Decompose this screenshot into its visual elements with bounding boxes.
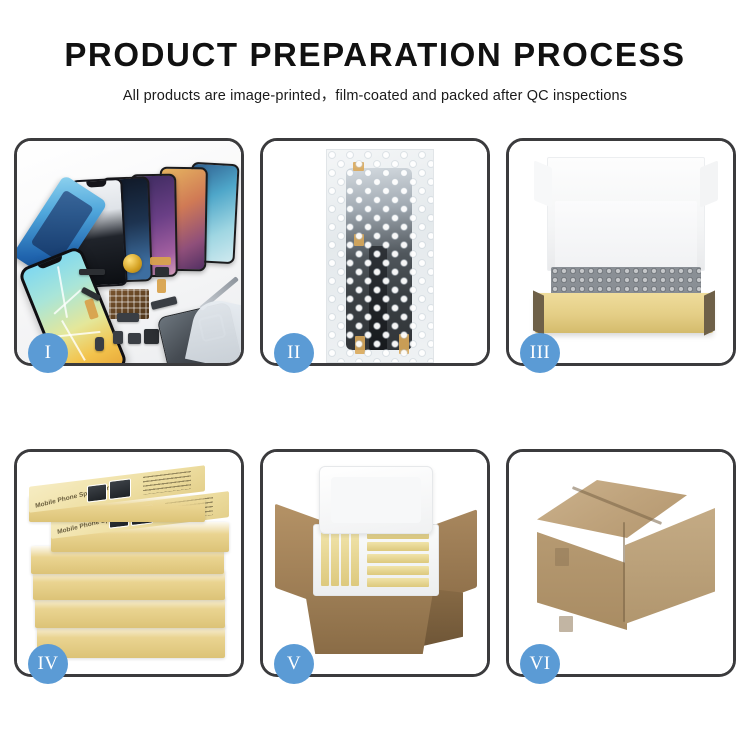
box-label-phone-a1 bbox=[87, 483, 107, 502]
stacked-box-4 bbox=[33, 570, 225, 600]
step-badge-3: III bbox=[520, 333, 560, 373]
inner-yellow-box-6 bbox=[367, 542, 429, 551]
vibration-motor-part bbox=[123, 254, 142, 273]
carton-tape-upper bbox=[555, 548, 569, 566]
inner-yellow-box-9 bbox=[367, 578, 429, 587]
panel-1-image bbox=[17, 141, 241, 363]
stacked-box-5 bbox=[35, 596, 225, 628]
step-badge-5: V bbox=[274, 644, 314, 684]
process-step-panel-6[interactable]: VI bbox=[506, 449, 736, 677]
chip-part-6 bbox=[117, 313, 139, 322]
flex-cable-2 bbox=[157, 279, 166, 293]
carton-vertical-edge bbox=[623, 522, 625, 622]
box-label-phone-b1 bbox=[109, 478, 131, 500]
panel-6-image bbox=[509, 452, 733, 674]
inner-yellow-box-2 bbox=[331, 532, 339, 586]
box-stack: Mobile Phone Spare Parts Mobile Phone Sp… bbox=[25, 474, 237, 664]
panel-5-image bbox=[263, 452, 487, 674]
process-panel-grid: I II III bbox=[14, 138, 736, 677]
inner-yellow-box-7 bbox=[367, 554, 429, 563]
chip-part-3 bbox=[113, 331, 123, 344]
step-badge-2: II bbox=[274, 333, 314, 373]
step-badge-1: I bbox=[28, 333, 68, 373]
process-step-panel-1[interactable]: I bbox=[14, 138, 244, 366]
step-badge-4: IV bbox=[28, 644, 68, 684]
inner-yellow-box-8 bbox=[367, 566, 429, 575]
chip-part-2 bbox=[155, 267, 169, 276]
page-subtitle: All products are image-printed，film-coat… bbox=[0, 84, 750, 105]
panel-2-image bbox=[263, 141, 487, 363]
inner-yellow-box-3 bbox=[341, 532, 349, 586]
process-step-panel-5[interactable]: V bbox=[260, 449, 490, 677]
flex-cable-1 bbox=[150, 257, 171, 265]
chip-part-1 bbox=[79, 269, 105, 275]
panel-4-image: Mobile Phone Spare Parts Mobile Phone Sp… bbox=[17, 452, 241, 674]
page-header: PRODUCT PREPARATION PROCESS All products… bbox=[0, 0, 750, 105]
inner-yellow-box-1 bbox=[321, 532, 329, 586]
foam-insert-lid bbox=[319, 466, 433, 534]
box-label-specs-1 bbox=[143, 471, 191, 495]
foam-lining bbox=[555, 201, 697, 275]
chip-part-7 bbox=[95, 337, 104, 351]
carton-tape-lower bbox=[559, 616, 573, 632]
panel-3-image bbox=[509, 141, 733, 363]
chip-part-4 bbox=[128, 333, 141, 344]
inner-yellow-box-4 bbox=[351, 532, 359, 586]
step-badge-6: VI bbox=[520, 644, 560, 684]
kraft-inner-box-base bbox=[535, 293, 713, 333]
chip-part-5 bbox=[144, 329, 159, 344]
carton-front-face bbox=[305, 592, 433, 654]
page-title: PRODUCT PREPARATION PROCESS bbox=[0, 38, 750, 71]
bubble-wrap-bag bbox=[326, 149, 434, 363]
process-step-panel-4[interactable]: Mobile Phone Spare Parts Mobile Phone Sp… bbox=[14, 449, 244, 677]
process-step-panel-3[interactable]: III bbox=[506, 138, 736, 366]
process-step-panel-2[interactable]: II bbox=[260, 138, 490, 366]
